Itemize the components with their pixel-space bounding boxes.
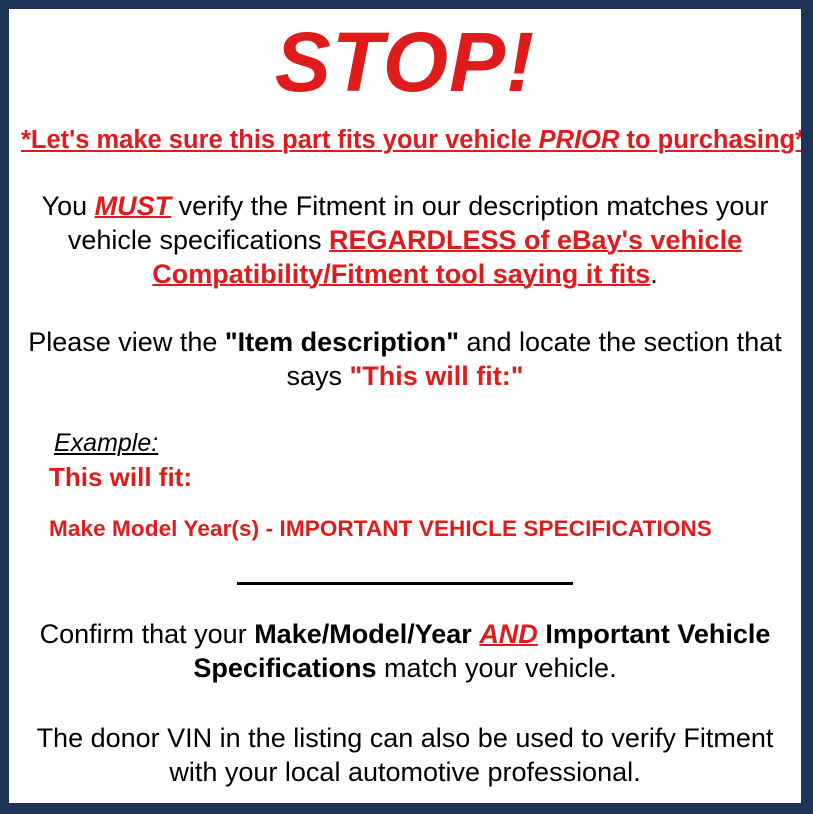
must-verify-paragraph: You MUST verify the Fitment in our descr…: [21, 155, 789, 291]
must-emphasis: MUST: [95, 191, 172, 221]
notice-content: STOP! *Let's make sure this part fits yo…: [9, 9, 801, 803]
subtitle-prefix: *Let's make sure this part fits your veh…: [21, 126, 539, 154]
example-label: Example:: [54, 428, 158, 458]
closing-message: Thank you for confirming Fitment!: [21, 789, 789, 814]
confirm-paragraph: Confirm that your Make/Model/Year AND Im…: [21, 590, 789, 685]
vin-paragraph: The donor VIN in the listing can also be…: [21, 685, 789, 789]
subtitle-suffix: to purchasing*: [619, 126, 805, 154]
subtitle-emphasis: PRIOR: [539, 126, 620, 154]
and-emphasis: AND: [479, 619, 538, 649]
example-fit-heading: This will fit:: [49, 462, 789, 493]
page-title: STOP!: [21, 9, 789, 108]
example-spec-line: Make Model Year(s) - IMPORTANT VEHICLE S…: [49, 515, 789, 542]
item-description-emphasis: "Item description": [225, 327, 459, 357]
confirm-part-2: match your vehicle.: [376, 653, 616, 683]
view-description-paragraph: Please view the "Item description" and l…: [21, 291, 789, 393]
confirm-part-1: Confirm that your: [40, 619, 255, 649]
divider-wrapper: [21, 542, 789, 590]
example-block: Example: This will fit: Make Model Year(…: [21, 393, 789, 542]
fitment-notice-card: STOP! *Let's make sure this part fits yo…: [0, 0, 813, 814]
view-part-1: Please view the: [28, 327, 225, 357]
must-part-3: .: [650, 259, 658, 289]
make-model-year-emphasis: Make/Model/Year: [254, 619, 472, 649]
this-will-fit-emphasis: "This will fit:": [349, 361, 523, 391]
subtitle-banner: *Let's make sure this part fits your veh…: [21, 126, 789, 155]
must-part-1: You: [42, 191, 95, 221]
horizontal-divider: [237, 582, 573, 585]
